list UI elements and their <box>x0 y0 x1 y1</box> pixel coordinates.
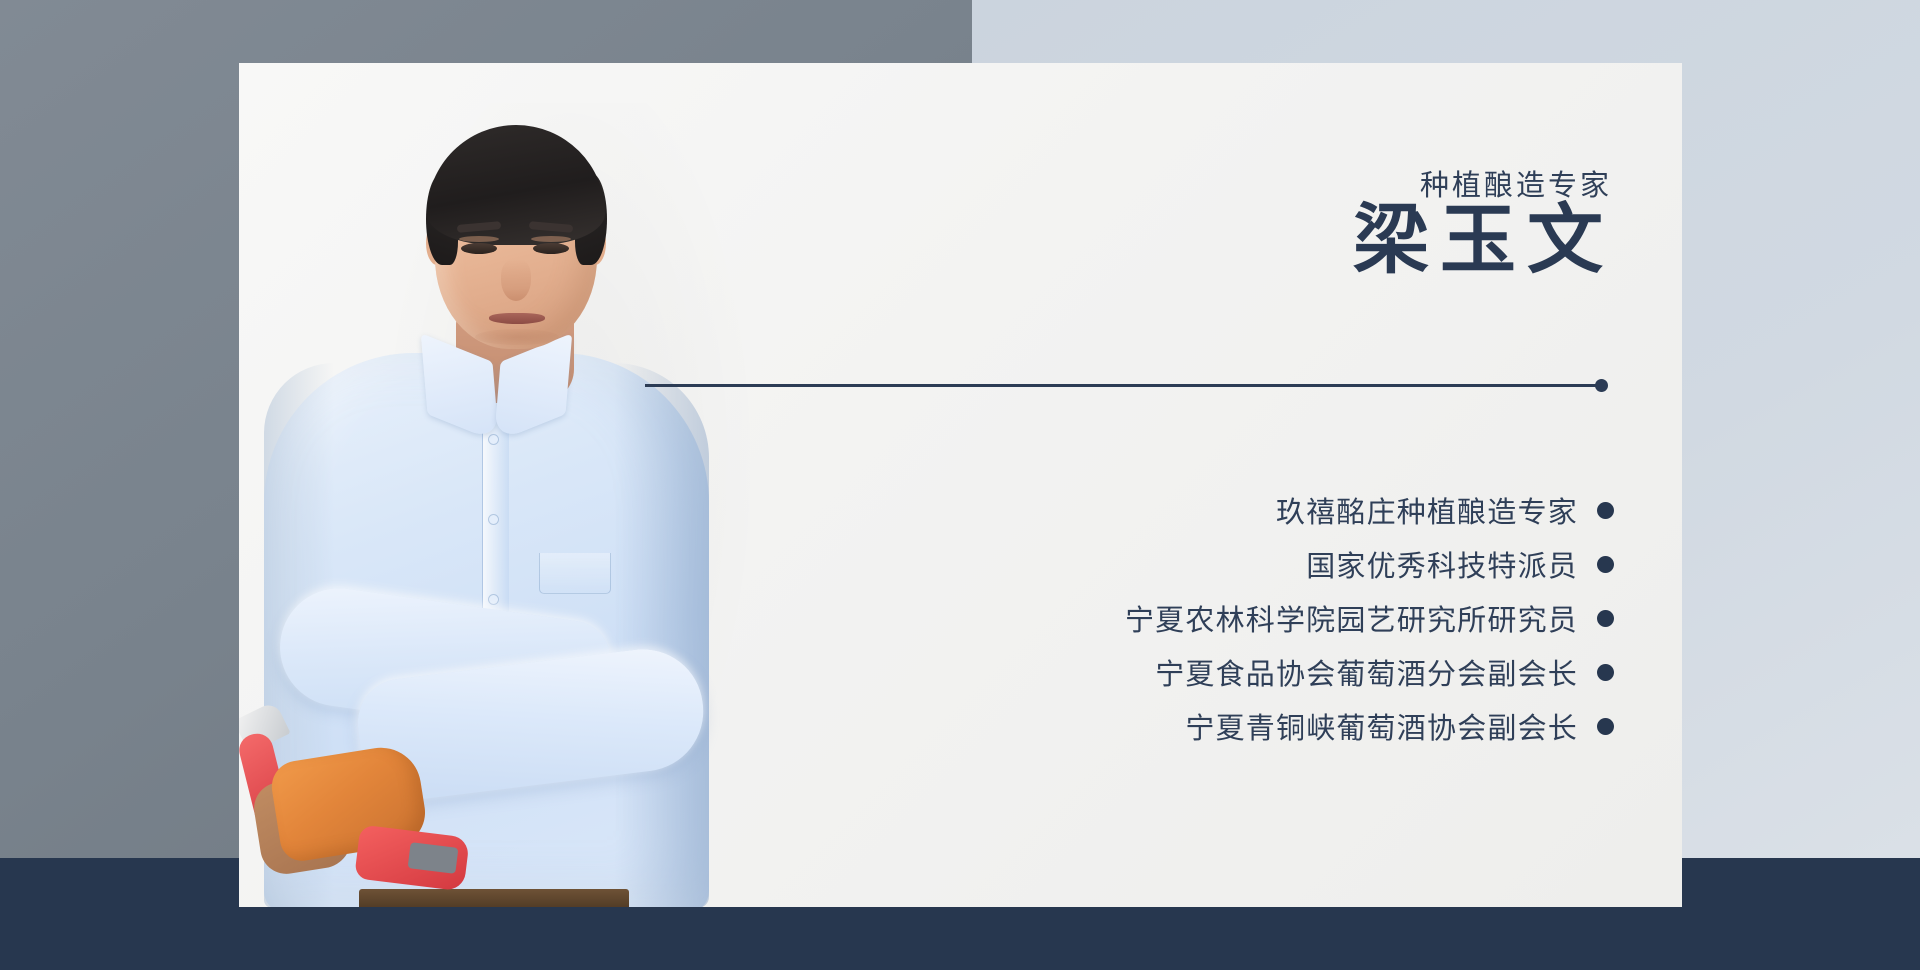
credentials-list: 玖禧酩庄种植酿造专家 国家优秀科技特派员 宁夏农林科学院园艺研究所研究员 宁夏食… <box>854 483 1614 753</box>
divider-end-dot <box>1595 379 1608 392</box>
list-item: 宁夏青铜峡葡萄酒协会副会长 <box>1185 699 1614 753</box>
credential-label: 玖禧酩庄种植酿造专家 <box>1276 489 1578 531</box>
horizontal-divider <box>645 384 1607 387</box>
bullet-dot-icon <box>1597 556 1614 573</box>
expert-name: 梁玉文 <box>1353 198 1614 285</box>
list-item: 国家优秀科技特派员 <box>1306 537 1614 591</box>
credential-label: 宁夏农林科学院园艺研究所研究员 <box>1125 597 1578 639</box>
bullet-dot-icon <box>1597 502 1614 519</box>
list-item: 玖禧酩庄种植酿造专家 <box>1276 483 1614 537</box>
bullet-dot-icon <box>1597 610 1614 627</box>
credential-label: 宁夏青铜峡葡萄酒协会副会长 <box>1185 705 1578 747</box>
credential-label: 宁夏食品协会葡萄酒分会副会长 <box>1155 651 1578 693</box>
credential-label: 国家优秀科技特派员 <box>1306 543 1578 585</box>
bullet-dot-icon <box>1597 664 1614 681</box>
list-item: 宁夏农林科学院园艺研究所研究员 <box>1125 591 1614 645</box>
bullet-dot-icon <box>1597 718 1614 735</box>
profile-card: 种植酿造专家 梁玉文 玖禧酩庄种植酿造专家 国家优秀科技特派员 宁夏农林科学院园… <box>239 63 1682 907</box>
poster-stage: 种植酿造专家 梁玉文 玖禧酩庄种植酿造专家 国家优秀科技特派员 宁夏农林科学院园… <box>0 0 1920 970</box>
list-item: 宁夏食品协会葡萄酒分会副会长 <box>1155 645 1614 699</box>
profile-text-column: 种植酿造专家 梁玉文 玖禧酩庄种植酿造专家 国家优秀科技特派员 宁夏农林科学院园… <box>239 63 1682 907</box>
